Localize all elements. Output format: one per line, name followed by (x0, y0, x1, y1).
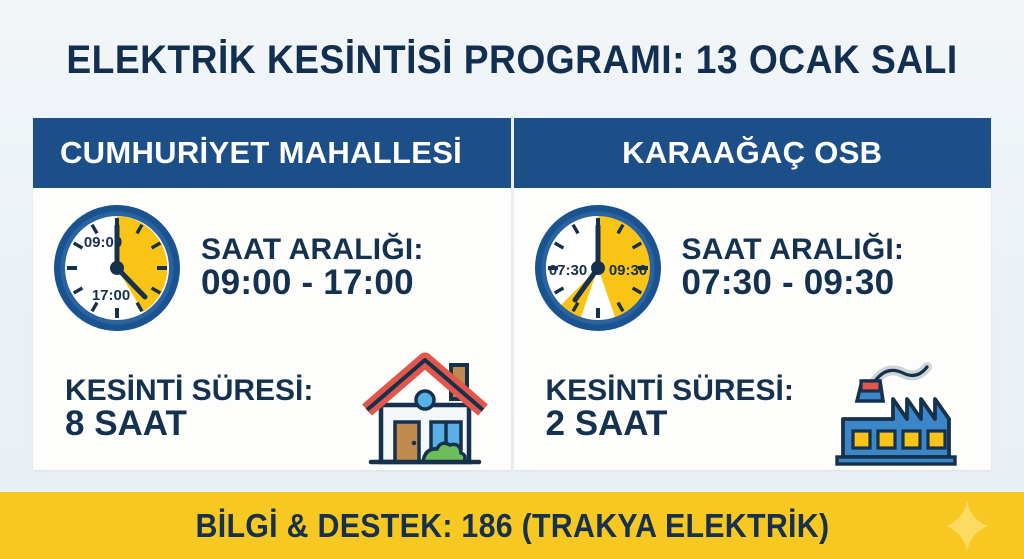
duration-text: KESİNTİ SÜRESİ: 2 SAAT (514, 375, 826, 443)
illustration-slot (825, 347, 991, 471)
time-range-text: SAAT ARALIĞI: 09:00 - 17:00 (201, 234, 511, 302)
duration-value: 8 SAAT (65, 406, 345, 443)
time-range-value: 09:00 - 17:00 (201, 265, 511, 302)
outage-card-cumhuriyet-mahallesi: CUMHURİYET MAHALLESİ (33, 118, 511, 470)
outage-card-list: CUMHURİYET MAHALLESİ (33, 118, 991, 470)
duration-label: KESİNTİ SÜRESİ: (546, 375, 826, 407)
duration-text: KESİNTİ SÜRESİ: 8 SAAT (33, 375, 345, 443)
page-title: ELEKTRİK KESİNTİSİ PROGRAMI: 13 OCAK SAL… (36, 38, 988, 83)
card-title: KARAAĞAÇ OSB (622, 135, 882, 171)
footer-banner: BİLGİ & DESTEK: 186 (TRAKYA ELEKTRİK) (0, 492, 1024, 559)
time-range-text: SAAT ARALIĞI: 07:30 - 09:30 (682, 234, 992, 302)
card-header: CUMHURİYET MAHALLESİ (33, 118, 511, 188)
factory-icon (835, 347, 975, 471)
duration-row: KESİNTİ SÜRESİ: 8 SAAT (33, 348, 511, 470)
clock-end-label: 17:00 (92, 287, 130, 304)
clock-slot: 09:00 17:00 (33, 201, 201, 335)
house-icon (359, 348, 491, 470)
illustration-slot (345, 348, 511, 470)
duration-label: KESİNTİ SÜRESİ: (65, 375, 345, 407)
clock-start-label: 07:30 (548, 262, 586, 279)
clock-slot: 07:30 09:30 (514, 201, 682, 335)
duration-value: 2 SAAT (546, 406, 826, 443)
card-title: CUMHURİYET MAHALLESİ (60, 135, 462, 171)
duration-row: KESİNTİ SÜRESİ: 2 SAAT (514, 348, 992, 470)
time-range-row: 09:00 17:00 SAAT ARALIĞI: 09:00 - 17:00 (33, 188, 511, 348)
clock-icon: 09:00 17:00 (50, 201, 184, 335)
support-info-text: BİLGİ & DESTEK: 186 (TRAKYA ELEKTRİK) (195, 507, 829, 545)
card-header: KARAAĞAÇ OSB (514, 118, 992, 188)
card-body: 09:00 17:00 SAAT ARALIĞI: 09:00 - 17:00 … (33, 188, 511, 470)
clock-start-label: 09:00 (84, 234, 122, 251)
time-range-row: 07:30 09:30 SAAT ARALIĞI: 07:30 - 09:30 (514, 188, 992, 348)
outage-card-karaagac-osb: KARAAĞAÇ OSB (514, 118, 992, 470)
clock-end-label: 09:30 (608, 262, 646, 279)
sparkle-icon (944, 499, 990, 553)
time-range-label: SAAT ARALIĞI: (201, 234, 511, 266)
clock-icon: 07:30 09:30 (531, 201, 665, 335)
time-range-label: SAAT ARALIĞI: (682, 234, 992, 266)
card-body: 07:30 09:30 SAAT ARALIĞI: 07:30 - 09:30 … (514, 188, 992, 470)
outage-schedule-poster: ELEKTRİK KESİNTİSİ PROGRAMI: 13 OCAK SAL… (0, 0, 1024, 559)
time-range-value: 07:30 - 09:30 (682, 265, 992, 302)
